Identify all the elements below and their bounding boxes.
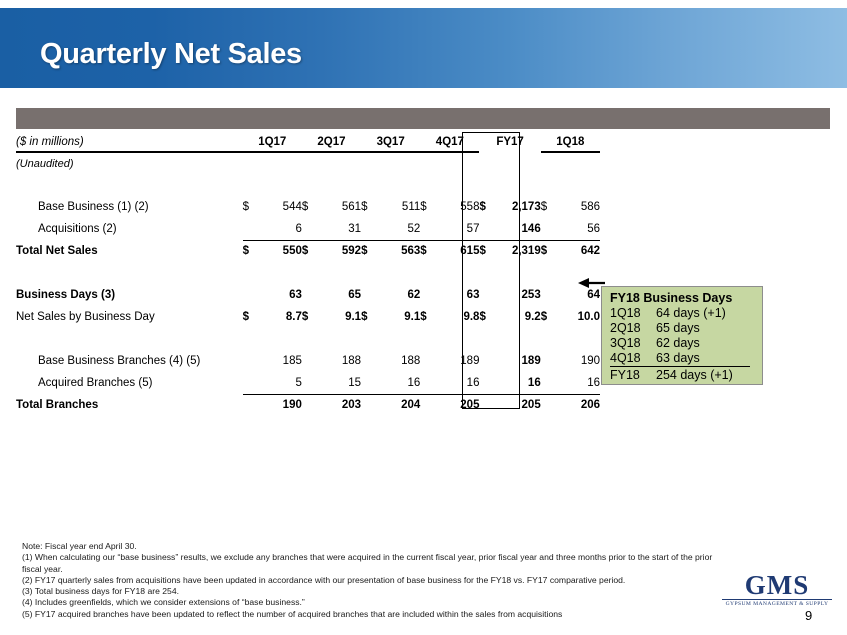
- currency-blank: [541, 372, 555, 394]
- footnote-5: (5) FY17 acquired branches have been upd…: [22, 609, 722, 620]
- unit-note: ($ in millions): [16, 132, 243, 152]
- cell-total-net-sales-3q17: 563: [375, 240, 420, 262]
- currency-blank: [541, 218, 555, 240]
- row-label-acquisitions: Acquisitions (2): [16, 218, 243, 240]
- callout-value-1q18: 64 days (+1): [656, 306, 726, 321]
- currency-symbol: $: [243, 196, 257, 218]
- callout-row-1q18: 1Q18 64 days (+1): [610, 306, 762, 321]
- callout-period-1q18: 1Q18: [610, 306, 656, 321]
- column-header-3q17: 3Q17: [361, 132, 420, 152]
- cell-acquired-branches-3q17: 16: [375, 372, 420, 394]
- currency-blank: [302, 284, 316, 306]
- cell-total-net-sales-1q18: 642: [555, 240, 600, 262]
- currency-blank: [302, 372, 316, 394]
- currency-symbol: $: [302, 240, 316, 262]
- fy17-column-highlight-header: [462, 132, 520, 153]
- currency-blank: [361, 394, 375, 416]
- currency-symbol: $: [541, 240, 555, 262]
- currency-symbol: $: [361, 306, 375, 328]
- currency-blank: [302, 218, 316, 240]
- cell-business-days-3q17: 62: [375, 284, 420, 306]
- company-logo: GMS GYPSUM MANAGEMENT & SUPPLY: [722, 572, 832, 607]
- callout-value-2q18: 65 days: [656, 321, 700, 336]
- callout-value-fy18: 254 days (+1): [656, 368, 733, 383]
- cell-base-branches-3q17: 188: [375, 350, 420, 372]
- currency-symbol: $: [420, 240, 434, 262]
- cell-total-branches-2q17: 203: [316, 394, 361, 416]
- fy18-business-days-callout: FY18 Business Days 1Q18 64 days (+1) 2Q1…: [601, 286, 763, 385]
- footnote-1: (1) When calculating our “base business”…: [22, 552, 722, 575]
- callout-row-4q18: 4Q18 63 days: [610, 351, 750, 367]
- currency-symbol: $: [420, 306, 434, 328]
- currency-symbol: $: [243, 240, 257, 262]
- currency-blank: [243, 218, 257, 240]
- currency-symbol: $: [541, 306, 555, 328]
- currency-symbol: $: [361, 196, 375, 218]
- logo-mark: GMS: [722, 572, 832, 599]
- currency-blank: [302, 394, 316, 416]
- row-label-business-days: Business Days (3): [16, 284, 243, 306]
- currency-symbol: $: [541, 196, 555, 218]
- row-label-total-branches: Total Branches: [16, 394, 243, 416]
- footnote-4: (4) Includes greenfields, which we consi…: [22, 597, 722, 608]
- page-number: 9: [805, 608, 812, 623]
- cell-base-business-1q17: 544: [257, 196, 302, 218]
- slide-title-band: Quarterly Net Sales: [0, 8, 847, 88]
- cell-acquisitions-2q17: 31: [316, 218, 361, 240]
- row-label-total-net-sales: Total Net Sales: [16, 240, 243, 262]
- callout-period-2q18: 2Q18: [610, 321, 656, 336]
- column-header-2q17: 2Q17: [302, 132, 361, 152]
- cell-acquired-branches-2q17: 15: [316, 372, 361, 394]
- currency-blank: [420, 218, 434, 240]
- currency-blank: [420, 350, 434, 372]
- cell-acquired-branches-1q17: 5: [257, 372, 302, 394]
- footnotes-block: Note: Fiscal year end April 30. (1) When…: [22, 541, 722, 620]
- cell-base-branches-1q18: 190: [555, 350, 600, 372]
- currency-blank: [420, 284, 434, 306]
- currency-symbol: $: [361, 240, 375, 262]
- cell-net-sales-per-day-1q17: 8.7: [257, 306, 302, 328]
- cell-acquisitions-1q18: 56: [555, 218, 600, 240]
- currency-blank: [243, 284, 257, 306]
- column-header-1q18: 1Q18: [541, 132, 600, 152]
- row-label-net-sales-by-business-day: Net Sales by Business Day: [16, 306, 243, 328]
- currency-blank: [541, 284, 555, 306]
- currency-symbol: $: [302, 306, 316, 328]
- cell-total-net-sales-1q17: 550: [257, 240, 302, 262]
- footnote-2: (2) FY17 quarterly sales from acquisitio…: [22, 575, 722, 586]
- cell-acquired-branches-1q18: 16: [555, 372, 600, 394]
- callout-value-4q18: 63 days: [656, 351, 700, 366]
- currency-blank: [420, 394, 434, 416]
- callout-row-3q18: 3Q18 62 days: [610, 336, 762, 351]
- cell-total-branches-1q18: 206: [555, 394, 600, 416]
- cell-net-sales-per-day-3q17: 9.1: [375, 306, 420, 328]
- cell-net-sales-per-day-2q17: 9.1: [316, 306, 361, 328]
- currency-symbol: $: [243, 306, 257, 328]
- row-label-base-business: Base Business (1) (2): [16, 196, 243, 218]
- currency-blank: [361, 284, 375, 306]
- row-label-acquired-branches: Acquired Branches (5): [16, 372, 243, 394]
- callout-row-2q18: 2Q18 65 days: [610, 321, 762, 336]
- cell-acquisitions-3q17: 52: [375, 218, 420, 240]
- callout-value-3q18: 62 days: [656, 336, 700, 351]
- callout-period-3q18: 3Q18: [610, 336, 656, 351]
- cell-base-business-2q17: 561: [316, 196, 361, 218]
- column-header-1q17: 1Q17: [243, 132, 302, 152]
- footnote-note: Note: Fiscal year end April 30.: [22, 541, 722, 552]
- currency-blank: [361, 218, 375, 240]
- cell-business-days-2q17: 65: [316, 284, 361, 306]
- cell-business-days-1q17: 63: [257, 284, 302, 306]
- cell-base-branches-2q17: 188: [316, 350, 361, 372]
- cell-total-net-sales-2q17: 592: [316, 240, 361, 262]
- callout-period-4q18: 4Q18: [610, 351, 656, 366]
- currency-blank: [302, 350, 316, 372]
- cell-base-branches-1q17: 185: [257, 350, 302, 372]
- cell-acquisitions-1q17: 6: [257, 218, 302, 240]
- gray-divider-bar: [16, 108, 830, 129]
- currency-blank: [541, 350, 555, 372]
- audit-note: (Unaudited): [16, 152, 243, 174]
- page-title: Quarterly Net Sales: [40, 38, 302, 71]
- fy17-column-highlight-body: [462, 153, 520, 409]
- currency-blank: [420, 372, 434, 394]
- currency-blank: [361, 372, 375, 394]
- currency-blank: [541, 394, 555, 416]
- callout-period-fy18: FY18: [610, 368, 656, 383]
- cell-base-business-3q17: 511: [375, 196, 420, 218]
- audit-note-filler: [243, 152, 600, 174]
- cell-net-sales-per-day-1q18: 10.0: [555, 306, 600, 328]
- currency-symbol: $: [420, 196, 434, 218]
- logo-tagline: GYPSUM MANAGEMENT & SUPPLY: [722, 599, 832, 607]
- cell-total-branches-1q17: 190: [257, 394, 302, 416]
- currency-symbol: $: [302, 196, 316, 218]
- callout-row-fy18: FY18 254 days (+1): [610, 367, 762, 383]
- currency-blank: [243, 372, 257, 394]
- financial-table-container: ($ in millions) 1Q17 2Q17 3Q17 4Q17 FY17…: [16, 132, 616, 416]
- callout-title: FY18 Business Days: [610, 291, 762, 305]
- row-label-base-business-branches: Base Business Branches (4) (5): [16, 350, 243, 372]
- currency-blank: [243, 350, 257, 372]
- footnote-3: (3) Total business days for FY18 are 254…: [22, 586, 722, 597]
- cell-base-business-1q18: 586: [555, 196, 600, 218]
- currency-blank: [243, 394, 257, 416]
- cell-total-branches-3q17: 204: [375, 394, 420, 416]
- currency-blank: [361, 350, 375, 372]
